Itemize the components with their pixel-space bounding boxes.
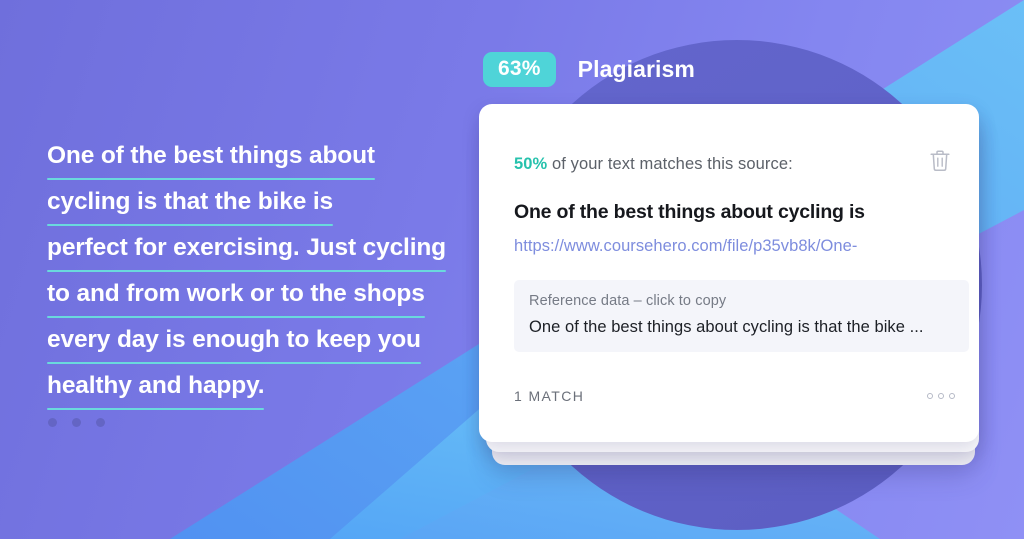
highlighted-document-text: One of the best things about cycling is …	[47, 134, 457, 410]
pagination-dot[interactable]	[48, 418, 57, 427]
source-match-percent: 50%	[514, 155, 547, 173]
app-background: One of the best things about cycling is …	[0, 0, 1024, 539]
panel-title: Plagiarism	[578, 56, 695, 83]
document-line: One of the best things about	[47, 134, 375, 180]
match-summary: 50% of your text matches this source:	[514, 155, 793, 174]
reference-data-text: One of the best things about cycling is …	[529, 318, 954, 337]
delete-source-button[interactable]	[923, 144, 957, 178]
pagination-dots[interactable]	[48, 418, 105, 427]
plagiarism-score-badge: 63%	[483, 52, 556, 87]
reference-data-box[interactable]: Reference data – click to copy One of th…	[514, 280, 969, 352]
document-line: cycling is that the bike is	[47, 180, 333, 226]
document-line: perfect for exercising. Just cycling	[47, 226, 446, 272]
panel-header: 63% Plagiarism	[483, 52, 695, 87]
match-count-label: 1 MATCH	[514, 388, 584, 404]
trash-icon	[929, 149, 951, 173]
card-footer: 1 MATCH	[514, 387, 957, 405]
document-line: healthy and happy.	[47, 364, 264, 410]
source-url-link[interactable]: https://www.coursehero.com/file/p35vb8k/…	[514, 237, 979, 256]
pagination-dot[interactable]	[96, 418, 105, 427]
ellipsis-icon	[938, 393, 944, 399]
document-line: to and from work or to the shops	[47, 272, 425, 318]
document-line: every day is enough to keep you	[47, 318, 421, 364]
pagination-dot[interactable]	[72, 418, 81, 427]
plagiarism-match-card[interactable]: 50% of your text matches this source: On…	[479, 104, 979, 442]
source-match-caption: of your text matches this source:	[547, 155, 793, 173]
more-options-button[interactable]	[925, 387, 957, 405]
ellipsis-icon	[949, 393, 955, 399]
reference-data-label: Reference data – click to copy	[529, 293, 954, 309]
source-title: One of the best things about cycling is	[514, 201, 979, 224]
ellipsis-icon	[927, 393, 933, 399]
